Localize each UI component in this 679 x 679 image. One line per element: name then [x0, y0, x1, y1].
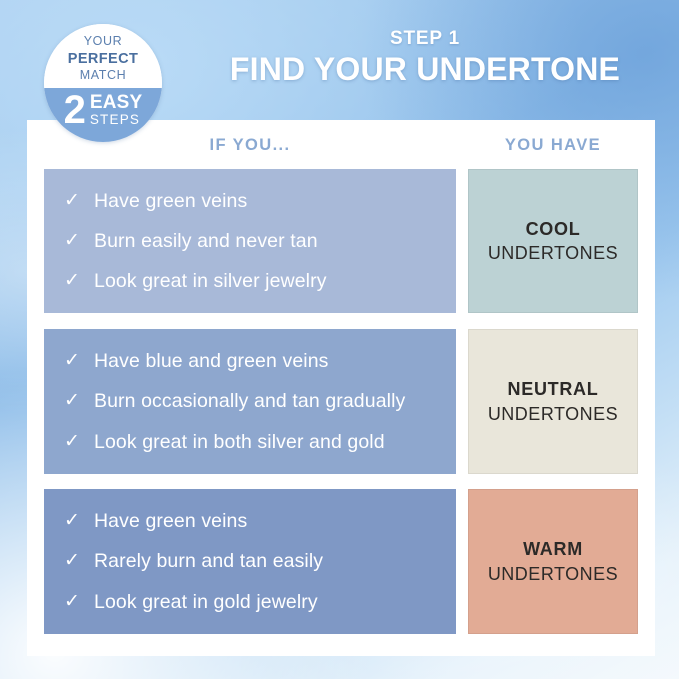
list-item-label: Have green veins	[94, 189, 247, 213]
undertone-name: WARM	[523, 537, 583, 561]
list-item-label: Burn easily and never tan	[94, 229, 318, 253]
list-item: ✓ Look great in both silver and gold	[44, 430, 456, 454]
badge-top-half: YOUR PERFECT MATCH	[44, 24, 162, 88]
undertone-word: UNDERTONES	[488, 402, 618, 426]
result-panel-neutral: NEUTRAL UNDERTONES	[468, 329, 638, 474]
undertone-word: UNDERTONES	[488, 241, 618, 265]
list-item-label: Look great in both silver and gold	[94, 430, 385, 454]
list-item-label: Look great in silver jewelry	[94, 269, 327, 293]
list-item-label: Have green veins	[94, 509, 247, 533]
check-icon: ✓	[64, 349, 94, 373]
check-icon: ✓	[64, 229, 94, 253]
list-item: ✓ Have green veins	[44, 509, 456, 533]
badge-line-perfect: PERFECT	[68, 50, 138, 69]
header: STEP 1 FIND YOUR UNDERTONE	[190, 28, 660, 88]
badge-step-count: 2	[64, 91, 85, 129]
badge-bottom-half: 2 EASY STEPS	[44, 88, 162, 142]
check-icon: ✓	[64, 549, 94, 573]
result-panel-warm: WARM UNDERTONES	[468, 489, 638, 634]
list-item-label: Burn occasionally and tan gradually	[94, 389, 405, 413]
list-item: ✓ Rarely burn and tan easily	[44, 549, 456, 573]
check-icon: ✓	[64, 590, 94, 614]
list-item: ✓ Have green veins	[44, 189, 456, 213]
check-icon: ✓	[64, 269, 94, 293]
result-panel-cool: COOL UNDERTONES	[468, 169, 638, 313]
check-icon: ✓	[64, 509, 94, 533]
undertone-name: NEUTRAL	[508, 377, 599, 401]
list-item-label: Look great in gold jewelry	[94, 590, 318, 614]
criteria-panel-neutral: ✓ Have blue and green veins ✓ Burn occas…	[44, 329, 456, 474]
badge-label-easy: EASY	[90, 94, 143, 113]
badge-line-your: YOUR	[84, 34, 123, 50]
badge-line-match: MATCH	[80, 68, 127, 84]
check-icon: ✓	[64, 189, 94, 213]
step-label: STEP 1	[190, 28, 660, 50]
undertone-name: COOL	[526, 217, 581, 241]
list-item: ✓ Have blue and green veins	[44, 349, 456, 373]
badge-steps-group: EASY STEPS	[90, 91, 143, 127]
check-icon: ✓	[64, 389, 94, 413]
list-item: ✓ Burn occasionally and tan gradually	[44, 389, 456, 413]
list-item: ✓ Look great in silver jewelry	[44, 269, 456, 293]
criteria-panel-cool: ✓ Have green veins ✓ Burn easily and nev…	[44, 169, 456, 313]
badge-label-steps: STEPS	[90, 113, 140, 127]
your-perfect-match-badge: YOUR PERFECT MATCH 2 EASY STEPS	[44, 24, 162, 142]
column-header-if-you: IF YOU...	[44, 136, 456, 155]
list-item-label: Rarely burn and tan easily	[94, 549, 323, 573]
undertone-word: UNDERTONES	[488, 562, 618, 586]
list-item: ✓ Burn easily and never tan	[44, 229, 456, 253]
page-title: FIND YOUR UNDERTONE	[190, 51, 660, 88]
criteria-panel-warm: ✓ Have green veins ✓ Rarely burn and tan…	[44, 489, 456, 634]
column-header-you-have: YOU HAVE	[468, 136, 638, 155]
list-item: ✓ Look great in gold jewelry	[44, 590, 456, 614]
check-icon: ✓	[64, 430, 94, 454]
list-item-label: Have blue and green veins	[94, 349, 329, 373]
